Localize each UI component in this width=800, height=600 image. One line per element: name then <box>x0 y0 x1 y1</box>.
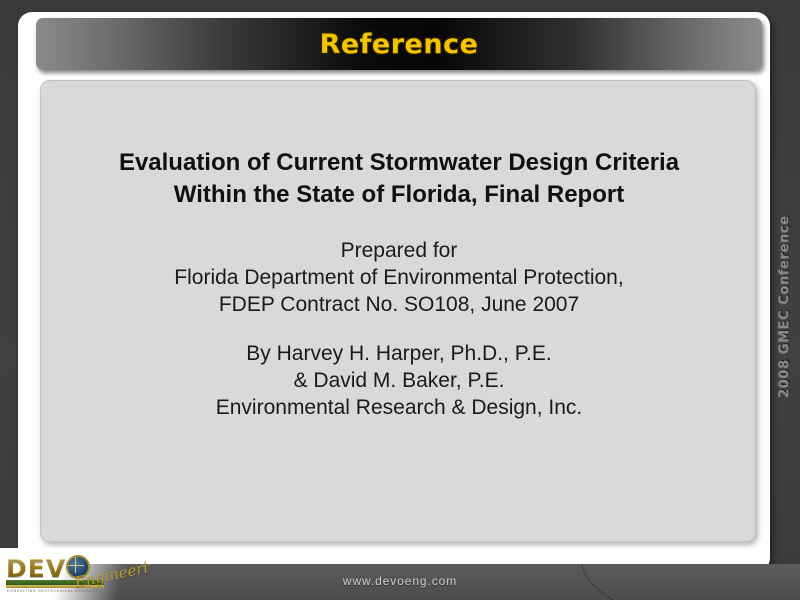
globe-equator-line <box>68 565 84 566</box>
headline-line-1: Evaluation of Current Stormwater Design … <box>75 147 723 179</box>
author-line-2: & David M. Baker, P.E. <box>61 367 737 394</box>
slide-title-bar: Reference <box>36 18 762 70</box>
devo-logo: DEVO CONSULTING GEOTECHNICAL DRAINAGE En… <box>0 548 150 600</box>
slide-title: Reference <box>320 29 479 60</box>
content-body: Evaluation of Current Stormwater Design … <box>41 147 757 421</box>
prepared-for-line-1: Prepared for <box>61 237 737 264</box>
prepared-for-line-3: FDEP Contract No. SO108, June 2007 <box>61 291 737 318</box>
prepared-for-line-2: Florida Department of Environmental Prot… <box>61 264 737 291</box>
content-panel: Evaluation of Current Stormwater Design … <box>40 80 756 542</box>
author-line-1: By Harvey H. Harper, Ph.D., P.E. <box>61 340 737 367</box>
globe-meridian-line <box>75 557 76 573</box>
spacer-after-headline <box>41 211 757 237</box>
headline-line-2: Within the State of Florida, Final Repor… <box>75 179 723 211</box>
side-tab-label: 2008 GMEC Conference <box>778 215 793 397</box>
spacer-before-authors <box>41 318 757 340</box>
slide-root: Reference Evaluation of Current Stormwat… <box>0 0 800 600</box>
side-tab: 2008 GMEC Conference <box>772 206 798 406</box>
author-line-3: Environmental Research & Design, Inc. <box>61 394 737 421</box>
